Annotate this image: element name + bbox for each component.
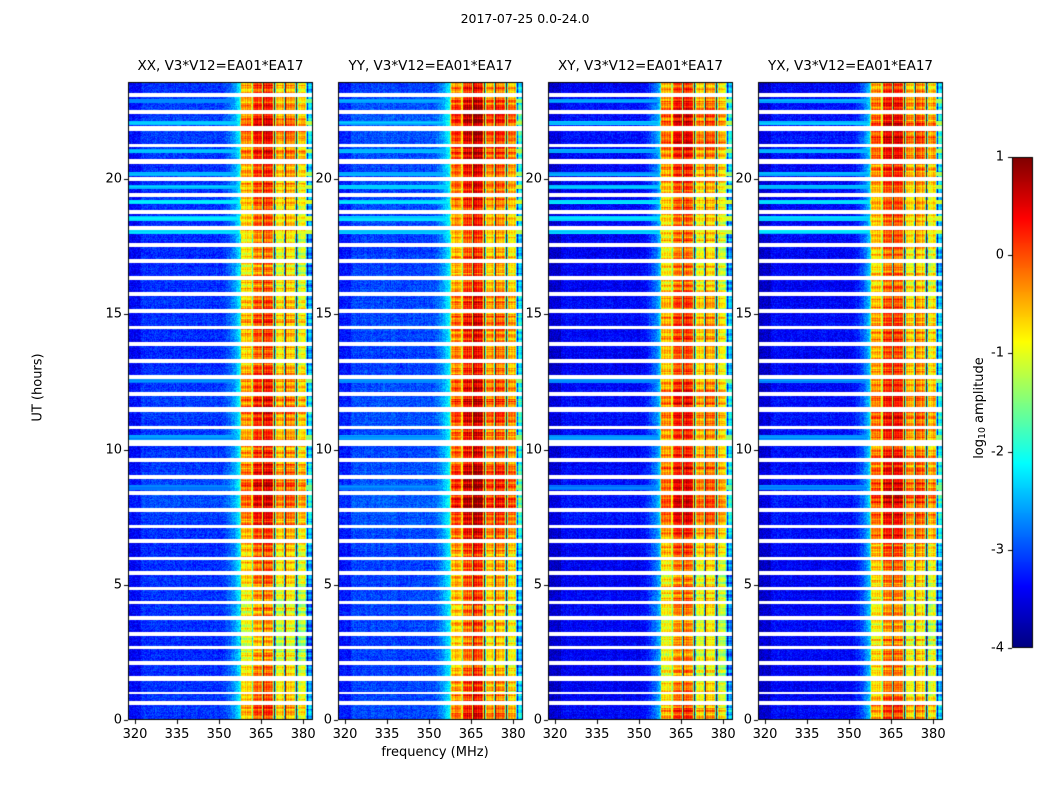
- y-tick-label: 5: [292, 577, 332, 592]
- x-tick-label: 335: [375, 727, 400, 742]
- panel-title-yx: YX, V3*V12=EA01*EA17: [758, 58, 943, 74]
- y-tick-label: 15: [82, 307, 122, 322]
- y-tick-label: 0: [292, 713, 332, 728]
- x-tick-label: 380: [921, 727, 946, 742]
- colorbar-tick-label: -2: [960, 444, 1004, 459]
- y-tick-label: 0: [502, 713, 542, 728]
- x-tick-label: 365: [669, 727, 694, 742]
- x-tick-label: 350: [837, 727, 862, 742]
- y-tick-label: 10: [502, 442, 542, 457]
- x-tick-label: 380: [711, 727, 736, 742]
- x-tick-label: 320: [123, 727, 148, 742]
- figure-suptitle: 2017-07-25 0.0-24.0: [0, 11, 1050, 26]
- y-tick-label: 5: [502, 577, 542, 592]
- y-axis-label: UT (hours): [31, 328, 46, 448]
- colorbar-tick-label: 1: [960, 150, 1004, 165]
- x-tick-label: 320: [543, 727, 568, 742]
- colorbar-tick-label: 0: [960, 248, 1004, 263]
- x-tick-label: 380: [291, 727, 316, 742]
- x-tick-label: 335: [795, 727, 820, 742]
- colorbar-tick-label: -1: [960, 346, 1004, 361]
- y-tick-label: 15: [292, 307, 332, 322]
- colorbar-tick-label: -3: [960, 542, 1004, 557]
- panel-title-xy: XY, V3*V12=EA01*EA17: [548, 58, 733, 74]
- colorbar-label-tail: amplitude: [972, 357, 987, 427]
- y-tick-label: 0: [712, 713, 752, 728]
- panel-title-xx: XX, V3*V12=EA01*EA17: [128, 58, 313, 74]
- x-tick-label: 365: [879, 727, 904, 742]
- dynamic-spectra-canvas: [0, 0, 1050, 800]
- colorbar-label-sub: 10: [977, 427, 988, 439]
- x-tick-label: 320: [753, 727, 778, 742]
- y-tick-label: 10: [82, 442, 122, 457]
- y-tick-label: 5: [712, 577, 752, 592]
- x-tick-label: 365: [459, 727, 484, 742]
- x-tick-label: 320: [333, 727, 358, 742]
- y-tick-label: 10: [712, 442, 752, 457]
- x-tick-label: 350: [627, 727, 652, 742]
- y-tick-label: 20: [82, 172, 122, 187]
- y-tick-label: 10: [292, 442, 332, 457]
- x-tick-label: 380: [501, 727, 526, 742]
- x-tick-label: 365: [249, 727, 274, 742]
- y-tick-label: 0: [82, 713, 122, 728]
- y-tick-label: 20: [712, 172, 752, 187]
- y-tick-label: 5: [82, 577, 122, 592]
- figure-container: 2017-07-25 0.0-24.0 XX, V3*V12=EA01*EA17…: [0, 0, 1050, 800]
- y-tick-label: 15: [502, 307, 542, 322]
- y-tick-label: 20: [292, 172, 332, 187]
- x-tick-label: 335: [585, 727, 610, 742]
- y-tick-label: 15: [712, 307, 752, 322]
- colorbar-tick-label: -4: [960, 641, 1004, 656]
- x-tick-label: 335: [165, 727, 190, 742]
- x-tick-label: 350: [207, 727, 232, 742]
- panel-title-yy: YY, V3*V12=EA01*EA17: [338, 58, 523, 74]
- x-tick-label: 350: [417, 727, 442, 742]
- x-axis-label: frequency (MHz): [0, 745, 870, 760]
- y-tick-label: 20: [502, 172, 542, 187]
